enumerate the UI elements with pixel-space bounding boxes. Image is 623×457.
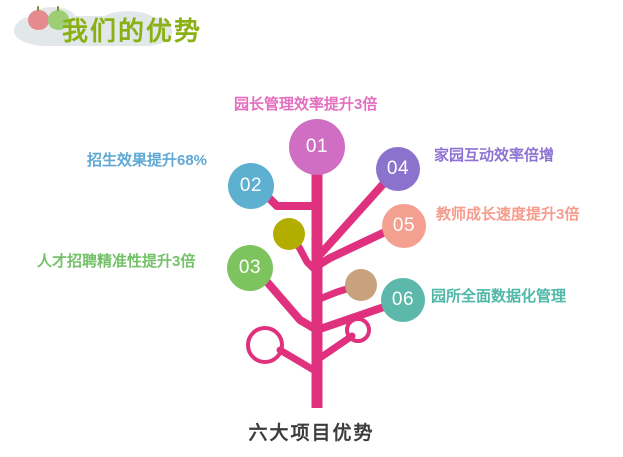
node-number-04: 04 <box>387 158 409 180</box>
node-circle-04[interactable]: 04 <box>376 147 420 191</box>
node-number-02: 02 <box>240 175 262 197</box>
tree-diagram <box>0 0 623 457</box>
branch-to-node-03 <box>268 283 317 330</box>
hollow-circle-small <box>347 319 369 341</box>
node-number-05: 05 <box>393 215 415 237</box>
node-circle-03[interactable]: 03 <box>227 245 273 291</box>
branch-to-hollow-large <box>280 350 317 372</box>
node-circle-05[interactable]: 05 <box>382 204 426 248</box>
node-number-06: 06 <box>392 289 414 311</box>
node-label-03: 人才招聘精准性提升3倍 <box>37 250 195 271</box>
node-label-04: 家园互动效率倍增 <box>434 144 554 165</box>
accent-dot-tan <box>345 269 377 301</box>
node-label-02: 招生效果提升68% <box>87 149 207 170</box>
node-label-01: 园长管理效率提升3倍 <box>234 93 377 114</box>
node-label-05: 教师成长速度提升3倍 <box>436 203 579 224</box>
branch-to-node-02 <box>266 195 317 206</box>
hollow-circle-large <box>248 328 282 362</box>
node-circle-02[interactable]: 02 <box>228 163 274 209</box>
node-number-01: 01 <box>306 136 328 158</box>
accent-dot-olive <box>273 218 305 250</box>
node-circle-06[interactable]: 06 <box>381 278 425 322</box>
node-label-06: 园所全面数据化管理 <box>431 285 566 306</box>
node-number-03: 03 <box>239 257 261 279</box>
node-circle-01[interactable]: 01 <box>289 119 345 175</box>
footer-caption: 六大项目优势 <box>0 418 623 445</box>
branch-to-node-06 <box>317 307 384 330</box>
